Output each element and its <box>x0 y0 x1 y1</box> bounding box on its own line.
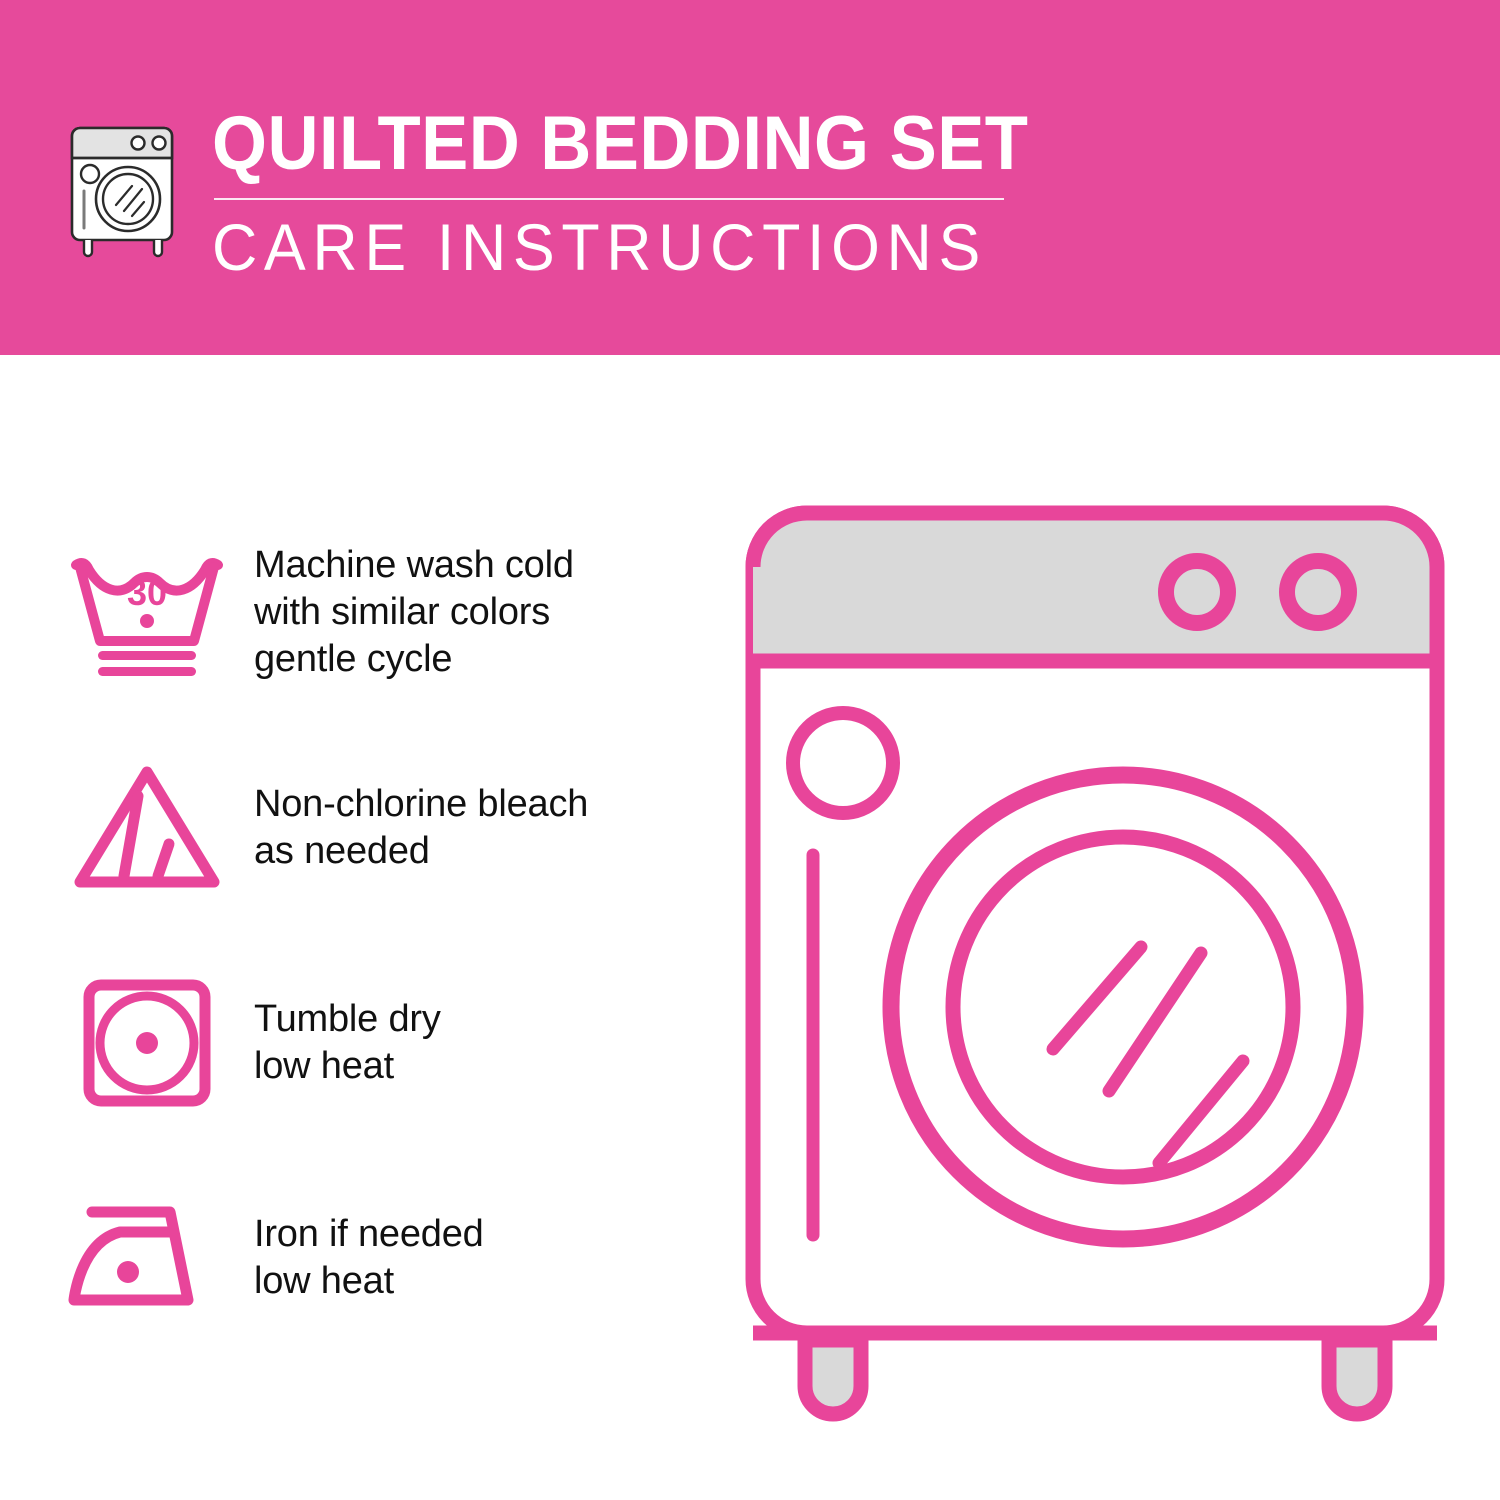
non-chlorine-bleach-icon <box>62 758 232 898</box>
care-text-line: Tumble dry <box>254 996 441 1043</box>
care-item-text: Iron if needed low heat <box>254 1211 484 1305</box>
front-load-washing-machine-illustration <box>735 495 1455 1435</box>
care-text-line: with similar colors <box>254 589 574 636</box>
iron-low-heat-icon <box>62 1188 232 1328</box>
washing-machine-icon <box>62 106 190 258</box>
care-symbol-wrapper <box>62 1188 242 1328</box>
care-symbol-wrapper: 30 <box>62 543 242 683</box>
page-subtitle: CARE INSTRUCTIONS <box>212 210 1046 284</box>
header-text-block: QUILTED BEDDING SET CARE INSTRUCTIONS <box>212 100 1090 284</box>
foot-right <box>1329 1340 1385 1414</box>
care-text-line: Non-chlorine bleach <box>254 781 588 828</box>
care-instructions-infographic: QUILTED BEDDING SET CARE INSTRUCTIONS 30 <box>0 0 1500 1500</box>
wash-temperature-label: 30 <box>127 572 167 613</box>
care-item-iron: Iron if needed low heat <box>62 1150 722 1365</box>
care-text-line: Machine wash cold <box>254 542 574 589</box>
care-item-bleach: Non-chlorine bleach as needed <box>62 720 722 935</box>
care-text-line: Iron if needed <box>254 1211 484 1258</box>
care-text-line: gentle cycle <box>254 636 574 683</box>
care-instruction-list: 30 Machine wash cold with similar colors… <box>62 505 722 1365</box>
care-item-machine-wash: 30 Machine wash cold with similar colors… <box>62 505 722 720</box>
header-banner: QUILTED BEDDING SET CARE INSTRUCTIONS <box>0 0 1500 355</box>
care-item-text: Non-chlorine bleach as needed <box>254 781 588 875</box>
header-content: QUILTED BEDDING SET CARE INSTRUCTIONS <box>62 100 1090 284</box>
machine-wash-30-gentle-icon: 30 <box>62 543 232 683</box>
header-divider <box>214 198 1004 200</box>
care-item-text: Machine wash cold with similar colors ge… <box>254 542 574 683</box>
control-panel <box>753 513 1437 661</box>
tumble-dry-low-icon <box>62 973 232 1113</box>
care-text-line: as needed <box>254 828 588 875</box>
care-symbol-wrapper <box>62 758 242 898</box>
care-symbol-wrapper <box>62 973 242 1113</box>
care-text-line: low heat <box>254 1258 484 1305</box>
foot-left <box>805 1340 861 1414</box>
care-text-line: low heat <box>254 1043 441 1090</box>
page-title: QUILTED BEDDING SET <box>212 102 1028 186</box>
care-item-text: Tumble dry low heat <box>254 996 441 1090</box>
care-item-tumble-dry: Tumble dry low heat <box>62 935 722 1150</box>
